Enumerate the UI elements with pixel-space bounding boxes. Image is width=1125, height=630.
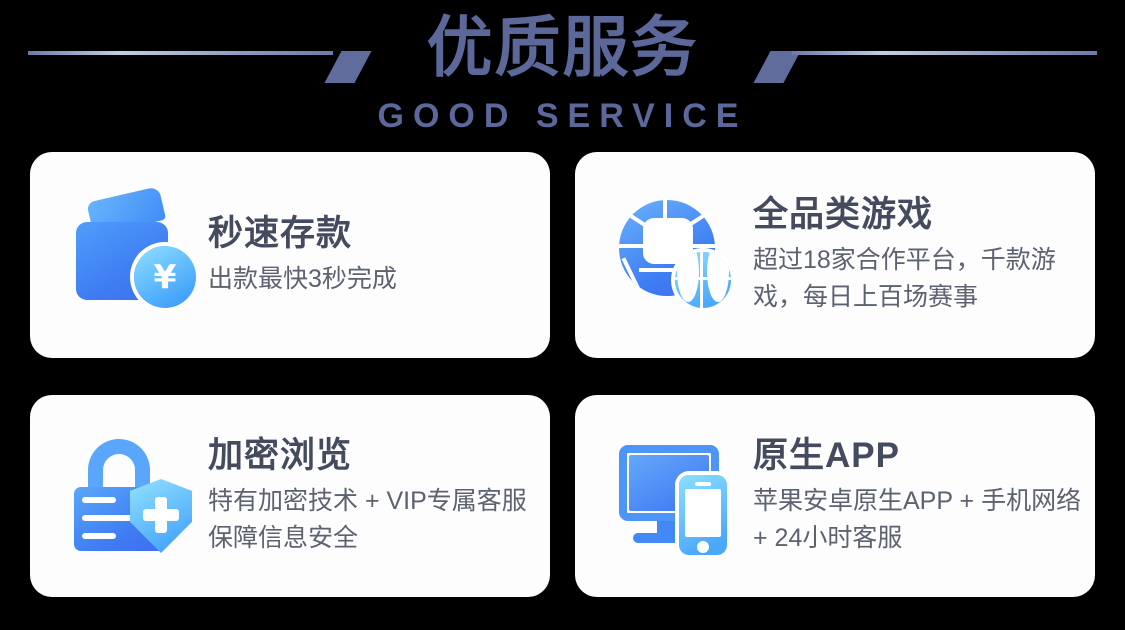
- basketball-shape: [675, 252, 731, 308]
- page-header: 优质服务 GOOD SERVICE: [0, 0, 1125, 146]
- card-subtitle: 出款最快3秒完成: [208, 261, 397, 298]
- phone-screen: [685, 489, 721, 537]
- card-subtitle: 特有加密技术 + VIP专属客服保障信息安全: [208, 483, 546, 557]
- card-title: 原生APP: [753, 435, 1091, 477]
- phone-speaker: [695, 482, 711, 486]
- wallet-coin-icon: ¥: [72, 196, 190, 314]
- soccer-basketball-icon: [617, 196, 735, 314]
- basketball-curve: [707, 252, 729, 302]
- feature-card-instant-deposit[interactable]: ¥ 秒速存款 出款最快3秒完成: [30, 152, 550, 358]
- card-title: 秒速存款: [208, 213, 397, 255]
- soccer-seam: [685, 203, 715, 228]
- soccer-seam: [619, 244, 653, 248]
- soccer-seam: [683, 244, 715, 248]
- soccer-seam: [619, 206, 651, 230]
- card-subtitle: 苹果安卓原生APP + 手机网络 + 24小时客服: [753, 483, 1091, 557]
- basketball-line: [700, 252, 703, 308]
- page-subtitle: GOOD SERVICE: [0, 96, 1125, 136]
- phone-shape: [679, 475, 727, 555]
- basketball-curve: [677, 252, 699, 302]
- card-title: 全品类游戏: [753, 194, 1091, 236]
- feature-card-encrypted-browsing[interactable]: 加密浏览 特有加密技术 + VIP专属客服保障信息安全: [30, 395, 550, 597]
- card-subtitle: 超过18家合作平台，千款游戏，每日上百场赛事: [753, 242, 1091, 316]
- yen-coin-badge: ¥: [134, 246, 196, 308]
- lock-shield-icon: [72, 437, 190, 555]
- yen-symbol: ¥: [154, 260, 177, 294]
- card-text-block: 秒速存款 出款最快3秒完成: [208, 213, 397, 298]
- soccer-seam: [663, 200, 667, 224]
- lock-body-dash: [82, 533, 116, 539]
- feature-card-native-app[interactable]: 原生APP 苹果安卓原生APP + 手机网络 + 24小时客服: [575, 395, 1095, 597]
- card-text-block: 原生APP 苹果安卓原生APP + 手机网络 + 24小时客服: [753, 435, 1091, 557]
- lock-body-dash: [82, 515, 132, 521]
- plus-icon: [143, 509, 179, 521]
- card-text-block: 加密浏览 特有加密技术 + VIP专属客服保障信息安全: [208, 435, 546, 557]
- monitor-phone-icon: [617, 437, 735, 555]
- feature-card-grid: ¥ 秒速存款 出款最快3秒完成: [30, 152, 1095, 597]
- phone-home-button: [697, 541, 709, 553]
- feature-card-all-games[interactable]: 全品类游戏 超过18家合作平台，千款游戏，每日上百场赛事: [575, 152, 1095, 358]
- card-text-block: 全品类游戏 超过18家合作平台，千款游戏，每日上百场赛事: [753, 194, 1091, 316]
- card-title: 加密浏览: [208, 435, 546, 477]
- lock-body-dash: [82, 497, 116, 503]
- page-title: 优质服务: [0, 8, 1125, 86]
- soccer-seam: [622, 257, 645, 296]
